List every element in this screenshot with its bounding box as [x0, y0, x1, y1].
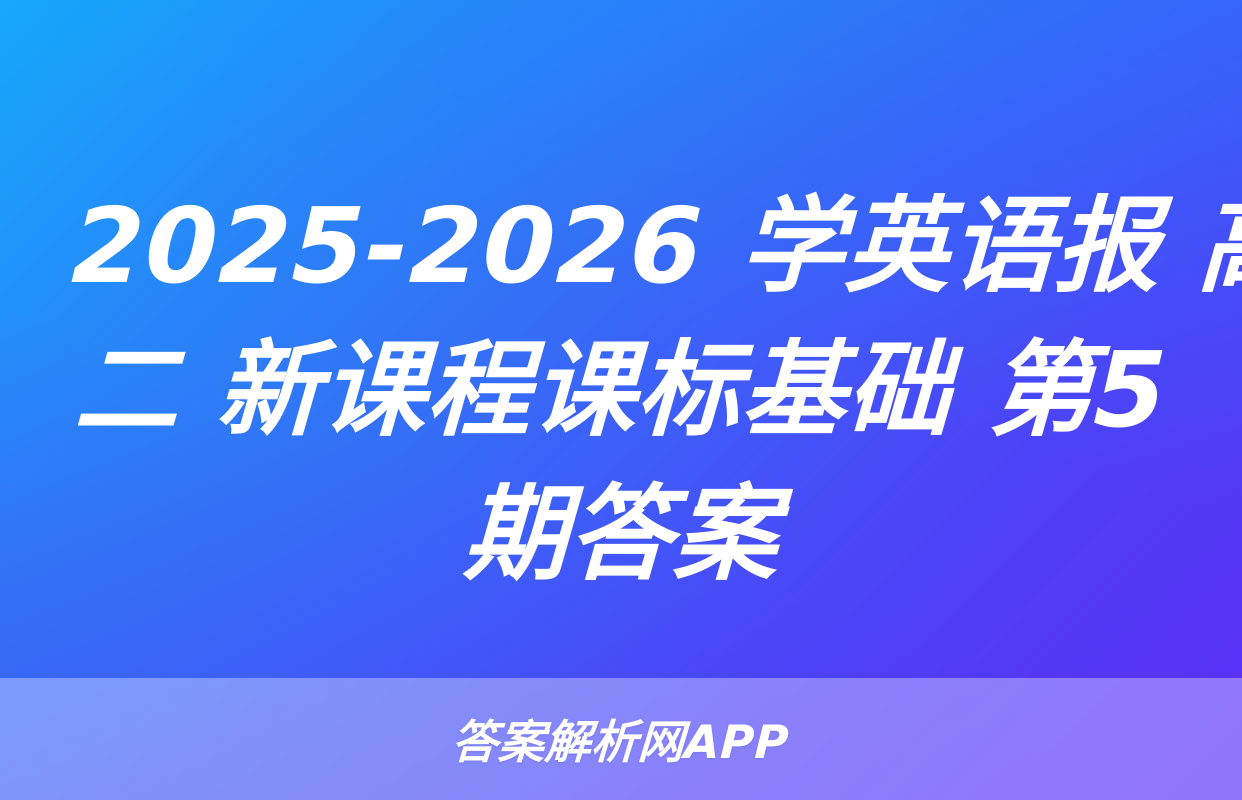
title-line-2: 二 新课程课标基础 第5 [69, 318, 1172, 462]
watermark-app-label: 答案解析网APP [451, 706, 791, 772]
title-line-1: 2025-2026 学英语报 高 [69, 174, 1172, 318]
poster-canvas: 2025-2026 学英语报 高 二 新课程课标基础 第5 期答案 答案解析网A… [0, 0, 1242, 800]
footer-watermark-band: 答案解析网APP [0, 678, 1242, 800]
poster-title: 2025-2026 学英语报 高 二 新课程课标基础 第5 期答案 [0, 174, 1242, 606]
title-line-3: 期答案 [69, 462, 1172, 606]
